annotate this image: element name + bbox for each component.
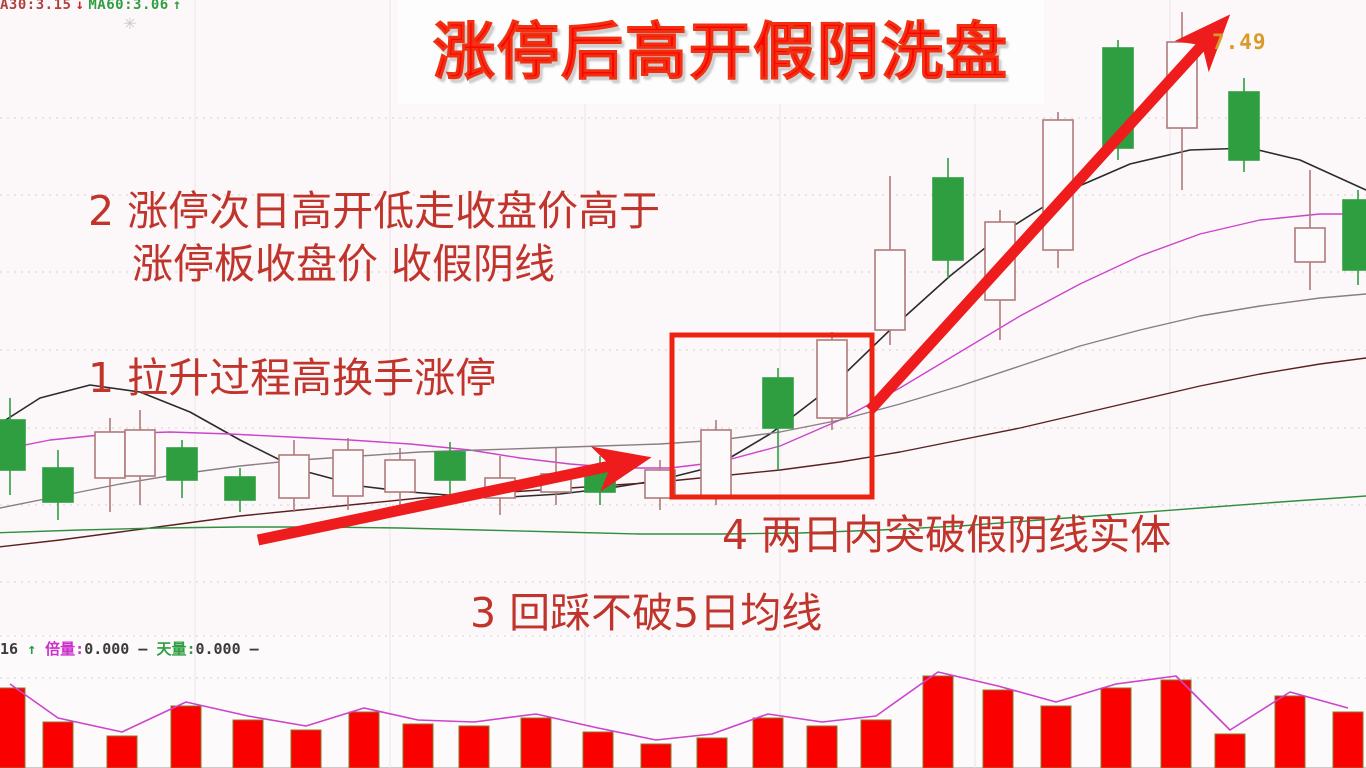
volume-bar — [923, 676, 953, 768]
volume-count-value: 16 — [0, 640, 18, 658]
tianliang-value: 0.000 — [195, 640, 240, 658]
volume-bar — [291, 730, 321, 768]
candlestick — [1229, 78, 1259, 172]
volume-bar — [403, 724, 433, 768]
ma30-legend-value: A30:3.15 — [0, 0, 71, 13]
stock-chart-screenshot: A30:3.15↓MA60:3.06↑ ✳ 涨停后高开假阴洗盘 7.49 2 涨… — [0, 0, 1366, 768]
candle-body — [435, 452, 465, 480]
annotation-note-3: 3 回踩不破5日均线 — [470, 590, 822, 634]
volume-bar — [43, 722, 73, 768]
price-label-tag: 7.49 — [1212, 30, 1267, 54]
annotation-note-1: 1 拉升过程高换手涨停 — [88, 355, 496, 402]
candle-body — [225, 477, 255, 500]
annotation-note-2-line2: 涨停板收盘价 收假阴线 — [132, 241, 660, 288]
volume-bar — [171, 706, 201, 768]
beiliang-label: 倍量: — [45, 640, 84, 658]
ma60-trend-arrow-icon: ↑ — [173, 0, 182, 13]
candlestick — [817, 332, 847, 430]
candle-body — [875, 250, 905, 330]
candle-body — [95, 432, 125, 478]
candle-body — [1295, 228, 1325, 262]
volume-bar — [521, 718, 551, 768]
beiliang-dash: — — [138, 640, 147, 658]
volume-bar — [753, 718, 783, 768]
volume-bar — [349, 712, 379, 768]
annotation-note-2: 2 涨停次日高开低走收盘价高于 涨停板收盘价 收假阴线 — [88, 188, 660, 288]
volume-bar — [1333, 712, 1363, 768]
volume-trend-arrow-icon: ↑ — [27, 640, 36, 658]
annotation-note-4: 4 两日内突破假阴线实体 — [722, 512, 1171, 559]
candle-body — [933, 178, 963, 260]
tianliang-dash: — — [250, 640, 259, 658]
candle-body — [279, 455, 309, 498]
volume-bar — [1275, 696, 1305, 768]
title-banner: 涨停后高开假阴洗盘 — [398, 0, 1044, 104]
volume-chart-pane[interactable]: 16 ↑ 倍量:0.000 — 天量:0.000 — — [0, 634, 1366, 768]
candlestick — [701, 420, 731, 505]
volume-bar — [1161, 680, 1191, 768]
page-title: 涨停后高开假阴洗盘 — [433, 21, 1009, 83]
volume-bar — [107, 736, 137, 768]
price-chart-pane[interactable]: A30:3.15↓MA60:3.06↑ ✳ 涨停后高开假阴洗盘 7.49 2 涨… — [0, 0, 1366, 634]
candle-body — [1343, 200, 1366, 270]
candle-body — [701, 430, 731, 498]
ma30-trend-arrow-icon: ↓ — [75, 0, 84, 13]
volume-bar — [807, 726, 837, 768]
price-indicator-legend: A30:3.15↓MA60:3.06↑ — [0, 0, 440, 17]
candle-body — [43, 468, 73, 502]
volume-bar — [697, 738, 727, 768]
candle-body — [0, 420, 25, 470]
candle-body — [1229, 92, 1259, 160]
volume-bar — [861, 720, 891, 768]
volume-bar — [983, 690, 1013, 768]
candle-body — [167, 448, 197, 480]
volume-bar — [1041, 706, 1071, 768]
volume-bar — [233, 720, 263, 768]
candle-body — [333, 450, 363, 496]
tianliang-label: 天量: — [156, 640, 195, 658]
volume-bar — [459, 726, 489, 768]
volume-bar — [1101, 688, 1131, 768]
sparkle-marker-icon: ✳ — [122, 17, 138, 33]
volume-bar — [1215, 734, 1245, 768]
volume-bar — [583, 732, 613, 768]
candlestick — [1343, 190, 1366, 285]
annotation-note-2-line1: 2 涨停次日高开低走收盘价高于 — [88, 187, 660, 235]
volume-bar — [641, 744, 671, 768]
candle-body — [817, 340, 847, 418]
beiliang-value: 0.000 — [84, 640, 129, 658]
candle-body — [125, 430, 155, 476]
ma60-legend-value: MA60:3.06 — [88, 0, 168, 13]
volume-indicator-legend: 16 ↑ 倍量:0.000 — 天量:0.000 — — [0, 638, 460, 660]
candle-body — [763, 378, 793, 428]
candle-body — [385, 460, 415, 492]
volume-bar — [0, 688, 25, 768]
